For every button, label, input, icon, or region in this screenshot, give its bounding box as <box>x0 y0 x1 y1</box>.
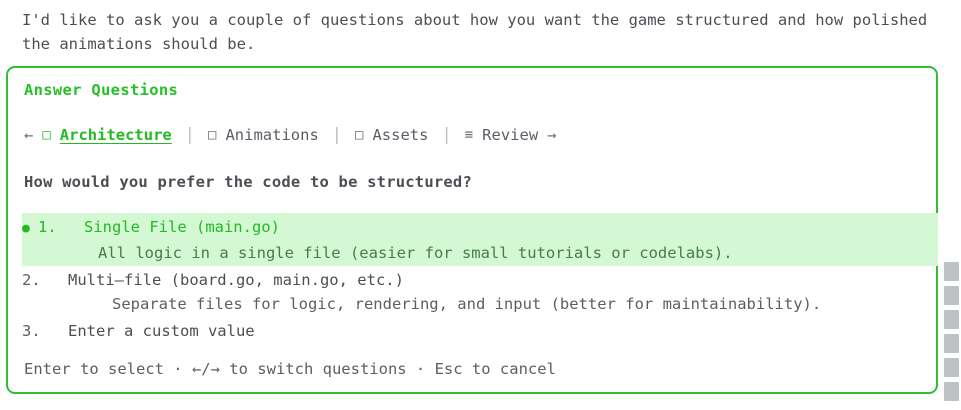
option-title: Enter a custom value <box>68 319 255 343</box>
options-list: ● 1. Single File (main.go) All logic in … <box>8 213 940 344</box>
checkbox-empty-icon: □ <box>208 127 216 143</box>
answer-questions-panel: Answer Questions ← □ Architecture | □ An… <box>6 66 938 394</box>
nav-item-label: Architecture <box>60 126 172 144</box>
checkbox-empty-icon: □ <box>355 127 363 143</box>
scrollbar-segment[interactable] <box>944 334 959 353</box>
nav-item-label: Assets <box>372 126 428 144</box>
question-navigation: ← □ Architecture | □ Animations | □ Asse… <box>24 126 557 144</box>
checkbox-empty-icon: □ <box>42 127 50 143</box>
option-row-2[interactable]: 2. Multi–file (board.go, main.go, etc.) … <box>8 266 940 317</box>
scrollbar-segment[interactable] <box>944 358 959 377</box>
nav-separator: | <box>332 127 342 144</box>
scrollbar[interactable] <box>944 262 959 408</box>
nav-separator: | <box>441 127 451 144</box>
option-title: Multi–file (board.go, main.go, etc.) <box>68 268 404 292</box>
intro-paragraph: I'd like to ask you a couple of question… <box>22 8 952 56</box>
option-description: All logic in a single file (easier for s… <box>22 241 938 265</box>
option-description: Separate files for logic, rendering, and… <box>8 292 940 316</box>
scrollbar-segment[interactable] <box>944 262 959 281</box>
nav-item-architecture[interactable]: □ Architecture <box>42 126 171 144</box>
option-number: 3. <box>22 319 68 343</box>
option-title: Single File (main.go) <box>84 215 280 239</box>
list-lines-icon: ≡ <box>465 127 473 143</box>
option-row-1[interactable]: ● 1. Single File (main.go) All logic in … <box>22 213 938 266</box>
nav-item-label: Animations <box>225 126 318 144</box>
nav-forward-arrow-icon[interactable]: → <box>547 126 556 144</box>
question-text: How would you prefer the code to be stru… <box>24 173 472 191</box>
scrollbar-segment[interactable] <box>944 382 959 401</box>
nav-item-review[interactable]: ≡ Review <box>465 126 538 144</box>
nav-item-label: Review <box>482 126 538 144</box>
selected-bullet-icon: ● <box>22 217 38 241</box>
nav-back-arrow-icon[interactable]: ← <box>24 126 33 144</box>
option-number: 1. <box>38 215 84 239</box>
nav-item-assets[interactable]: □ Assets <box>355 126 428 144</box>
option-number: 2. <box>22 268 68 292</box>
option-row-3[interactable]: 3. Enter a custom value <box>8 317 940 344</box>
panel-title: Answer Questions <box>24 81 178 99</box>
nav-separator: | <box>185 127 195 144</box>
nav-item-animations[interactable]: □ Animations <box>208 126 319 144</box>
scrollbar-segment[interactable] <box>944 310 959 329</box>
keyboard-hints: Enter to select · ←/→ to switch question… <box>24 360 556 378</box>
scrollbar-segment[interactable] <box>944 286 959 305</box>
